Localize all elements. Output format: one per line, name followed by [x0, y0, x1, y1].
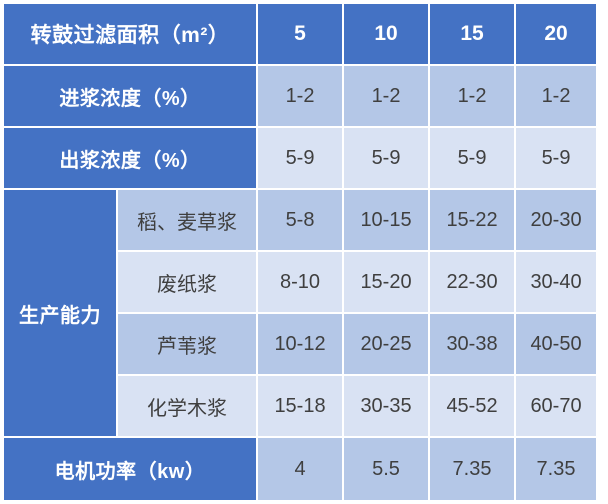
sublabel-chemical-wood-pulp: 化学木浆	[118, 376, 258, 438]
cell-inlet-3: 1-2	[430, 66, 516, 128]
header-col-3: 15	[430, 4, 516, 66]
cell-woodpulp-4: 60-70	[516, 376, 598, 438]
cell-motorpower-3: 7.35	[430, 438, 516, 502]
cell-woodpulp-3: 45-52	[430, 376, 516, 438]
cell-reed-3: 30-38	[430, 314, 516, 376]
cell-wastepaper-4: 30-40	[516, 252, 598, 314]
cell-reed-4: 40-50	[516, 314, 598, 376]
cell-reed-2: 20-25	[344, 314, 430, 376]
sublabel-waste-paper-pulp: 废纸浆	[118, 252, 258, 314]
table-row-capacity-rice-wheat-straw: 生产能力 稻、麦草浆 5-8 10-15 15-22 20-30	[4, 190, 598, 252]
cell-motorpower-2: 5.5	[344, 438, 430, 502]
table-row-outlet-consistency: 出浆浓度（%） 5-9 5-9 5-9 5-9	[4, 128, 598, 190]
cell-straw-2: 10-15	[344, 190, 430, 252]
cell-outlet-2: 5-9	[344, 128, 430, 190]
cell-straw-3: 15-22	[430, 190, 516, 252]
spec-table-container: 转鼓过滤面积（m²） 5 10 15 20 进浆浓度（%） 1-2 1-2 1-…	[0, 0, 608, 504]
header-col-2: 10	[344, 4, 430, 66]
header-title-cell: 转鼓过滤面积（m²）	[4, 4, 258, 66]
header-col-1: 5	[258, 4, 344, 66]
sublabel-reed-pulp: 芦苇浆	[118, 314, 258, 376]
cell-straw-4: 20-30	[516, 190, 598, 252]
cell-outlet-4: 5-9	[516, 128, 598, 190]
cell-straw-1: 5-8	[258, 190, 344, 252]
cell-motorpower-1: 4	[258, 438, 344, 502]
cell-reed-1: 10-12	[258, 314, 344, 376]
table-header-row: 转鼓过滤面积（m²） 5 10 15 20	[4, 4, 598, 66]
cell-wastepaper-1: 8-10	[258, 252, 344, 314]
header-title-text: 转鼓过滤面积（m²）	[4, 19, 256, 49]
cell-inlet-4: 1-2	[516, 66, 598, 128]
cell-outlet-3: 5-9	[430, 128, 516, 190]
row-label-production-capacity: 生产能力	[4, 190, 118, 438]
row-label-inlet-consistency: 进浆浓度（%）	[4, 66, 258, 128]
row-label-outlet-consistency: 出浆浓度（%）	[4, 128, 258, 190]
cell-motorpower-4: 7.35	[516, 438, 598, 502]
drum-filter-spec-table: 转鼓过滤面积（m²） 5 10 15 20 进浆浓度（%） 1-2 1-2 1-…	[4, 4, 598, 502]
sublabel-rice-wheat-straw-pulp: 稻、麦草浆	[118, 190, 258, 252]
table-row-inlet-consistency: 进浆浓度（%） 1-2 1-2 1-2 1-2	[4, 66, 598, 128]
cell-inlet-1: 1-2	[258, 66, 344, 128]
cell-wastepaper-2: 15-20	[344, 252, 430, 314]
cell-woodpulp-2: 30-35	[344, 376, 430, 438]
row-label-motor-power: 电机功率（kw）	[4, 438, 258, 502]
cell-woodpulp-1: 15-18	[258, 376, 344, 438]
cell-wastepaper-3: 22-30	[430, 252, 516, 314]
cell-outlet-1: 5-9	[258, 128, 344, 190]
table-row-motor-power: 电机功率（kw） 4 5.5 7.35 7.35	[4, 438, 598, 502]
cell-inlet-2: 1-2	[344, 66, 430, 128]
header-col-4: 20	[516, 4, 598, 66]
